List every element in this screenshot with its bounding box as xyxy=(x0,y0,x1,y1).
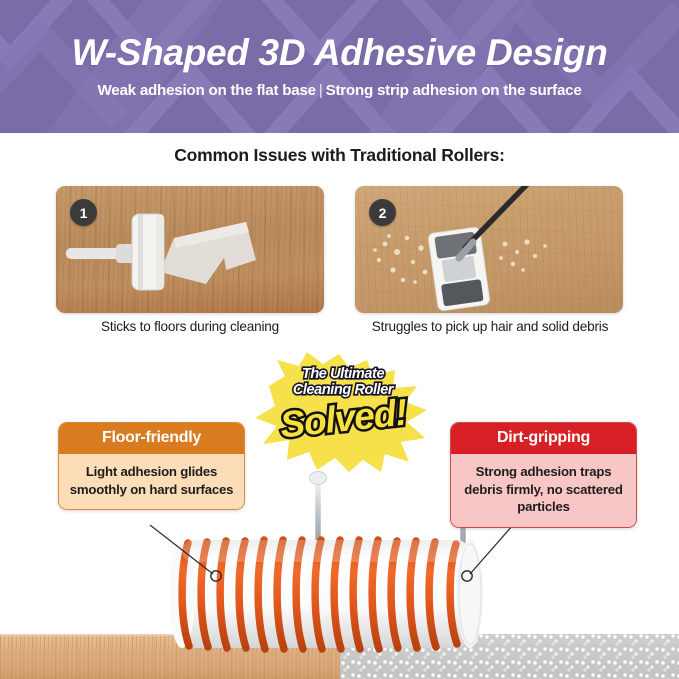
feature-card-floor-friendly: Floor-friendly Light adhesion glides smo… xyxy=(58,422,245,510)
issue-photo-card-1: 1 xyxy=(56,186,324,313)
header-subtitle-left: Weak adhesion on the flat base xyxy=(97,82,315,99)
roller-body xyxy=(169,540,483,649)
carpet-floor-surface xyxy=(340,634,679,679)
header-subtitle: Weak adhesion on the flat base|Strong st… xyxy=(97,82,581,99)
feature-card-dirt-gripping: Dirt-gripping Strong adhesion traps debr… xyxy=(450,422,637,528)
roller-orange-stripes xyxy=(182,540,457,649)
feature-card-title: Dirt-gripping xyxy=(451,423,636,454)
feature-card-title: Floor-friendly xyxy=(59,423,244,454)
issue-photo-card-2: 2 xyxy=(355,186,623,313)
header-subtitle-separator: | xyxy=(316,82,326,99)
issue-badge-1: 1 xyxy=(70,199,97,226)
feature-card-body: Light adhesion glides smoothly on hard s… xyxy=(59,454,244,509)
issue-caption-2: Struggles to pick up hair and solid debr… xyxy=(340,319,640,334)
flat-mop-debris-photo-illustration xyxy=(355,186,623,313)
feature-card-body: Strong adhesion traps debris firmly, no … xyxy=(451,454,636,527)
header-subtitle-right: Strong strip adhesion on the surface xyxy=(326,82,582,99)
issue-photo-row: 1 2 xyxy=(0,186,679,316)
hardwood-floor-surface xyxy=(0,634,340,679)
starburst-shape-icon xyxy=(255,352,431,472)
roller-handle-frame xyxy=(310,472,464,557)
solved-burst: The Ultimate Cleaning Roller Solved! xyxy=(255,352,431,472)
issues-section-title: Common Issues with Traditional Rollers: xyxy=(0,145,679,166)
floor-surfaces xyxy=(0,634,679,679)
issue-badge-2: 2 xyxy=(369,199,396,226)
issue-caption-1: Sticks to floors during cleaning xyxy=(40,319,340,334)
infographic-page: W-Shaped 3D Adhesive Design Weak adhesio… xyxy=(0,0,679,679)
header-title: W-Shaped 3D Adhesive Design xyxy=(71,34,607,73)
lint-roller-photo-illustration xyxy=(56,186,324,313)
header-banner: W-Shaped 3D Adhesive Design Weak adhesio… xyxy=(0,0,679,133)
